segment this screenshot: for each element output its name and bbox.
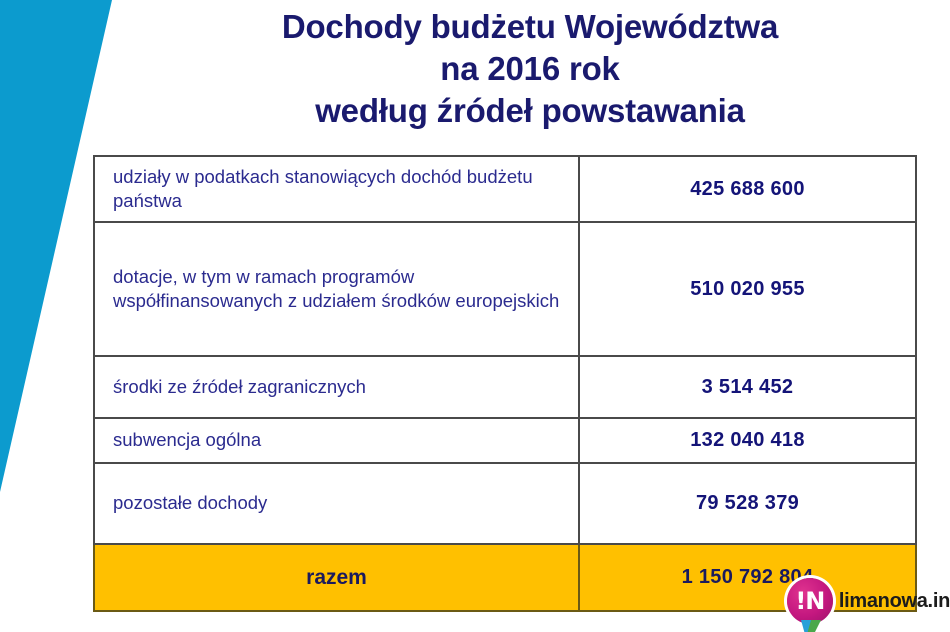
revenue-source-label: dotacje, w tym w ramach programów współf…	[95, 259, 578, 320]
revenue-source-cell: pozostałe dochody	[94, 463, 579, 544]
revenue-amount-cell: 425 688 600	[579, 156, 916, 222]
title-line-2: na 2016 rok	[150, 48, 910, 90]
table-row: środki ze źródeł zagranicznych 3 514 452	[94, 356, 916, 418]
revenue-amount-value: 510 020 955	[580, 272, 915, 307]
revenue-source-label: pozostałe dochody	[95, 485, 578, 521]
revenue-amount-value: 79 528 379	[580, 486, 915, 521]
revenue-amount-value: 425 688 600	[580, 172, 915, 207]
revenue-source-label: środki ze źródeł zagranicznych	[95, 369, 578, 405]
total-label-cell: razem	[94, 544, 579, 611]
badge-tail-icon	[801, 620, 821, 632]
slide-canvas: Dochody budżetu Województwa na 2016 rok …	[0, 0, 950, 632]
revenue-source-label: subwencja ogólna	[95, 422, 578, 458]
table-row: udziały w podatkach stanowiących dochód …	[94, 156, 916, 222]
limanowa-in-badge-icon: !N	[787, 578, 833, 624]
revenue-amount-cell: 3 514 452	[579, 356, 916, 418]
revenue-amount-cell: 510 020 955	[579, 222, 916, 356]
site-watermark-logo: !N limanowa.in	[787, 578, 950, 624]
page-title: Dochody budżetu Województwa na 2016 rok …	[150, 6, 910, 133]
table-row: subwencja ogólna 132 040 418	[94, 418, 916, 463]
logo-wordmark: limanowa.in	[839, 590, 950, 613]
title-line-1: Dochody budżetu Województwa	[150, 6, 910, 48]
table-row: dotacje, w tym w ramach programów współf…	[94, 222, 916, 356]
revenue-source-cell: środki ze źródeł zagranicznych	[94, 356, 579, 418]
revenue-source-cell: subwencja ogólna	[94, 418, 579, 463]
revenue-source-cell: udziały w podatkach stanowiących dochód …	[94, 156, 579, 222]
badge-text: !N	[795, 589, 824, 613]
budget-revenue-table: udziały w podatkach stanowiących dochód …	[93, 155, 917, 612]
total-label: razem	[95, 558, 578, 598]
revenue-amount-value: 132 040 418	[580, 423, 915, 458]
revenue-source-cell: dotacje, w tym w ramach programów współf…	[94, 222, 579, 356]
revenue-amount-cell: 132 040 418	[579, 418, 916, 463]
revenue-amount-cell: 79 528 379	[579, 463, 916, 544]
table-row: pozostałe dochody 79 528 379	[94, 463, 916, 544]
revenue-source-label: udziały w podatkach stanowiących dochód …	[95, 159, 578, 220]
revenue-amount-value: 3 514 452	[580, 370, 915, 405]
title-line-3: według źródeł powstawania	[150, 90, 910, 132]
